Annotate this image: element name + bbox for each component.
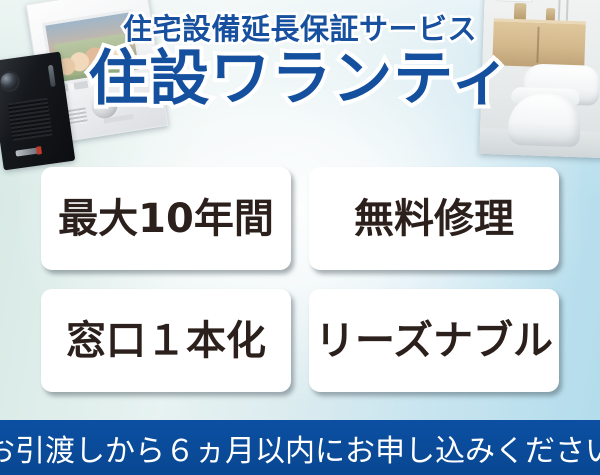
banner-subtitle: 住宅設備延長保証サービス [0,14,600,46]
intercom-call-button [15,148,38,157]
feature-card-1[interactable]: 最大10年間 [41,167,291,270]
promo-banner: 住宅設備延長保証サービス 住設ワランティ 最大10年間 無料修理 窓口１本化 リ… [0,0,600,475]
banner-title: 住設ワランティ [0,48,600,111]
feature-card-label: 窓口１本化 [66,321,266,361]
feature-card-label: 無料修理 [354,199,514,239]
feature-card-label: リーズナブル [315,321,553,361]
feature-card-2[interactable]: 無料修理 [309,167,559,270]
cta-bar[interactable]: お引渡しから６ヵ月以内にお申し込みください [0,420,600,475]
headline-block: 住宅設備延長保証サービス 住設ワランティ [0,14,600,111]
feature-card-3[interactable]: 窓口１本化 [41,289,291,392]
feature-card-grid: 最大10年間 無料修理 窓口１本化 リーズナブル [41,167,559,392]
cta-text: お引渡しから６ヵ月以内にお申し込みください [0,426,600,470]
feature-card-label: 最大10年間 [58,199,274,239]
feature-card-4[interactable]: リーズナブル [309,289,559,392]
